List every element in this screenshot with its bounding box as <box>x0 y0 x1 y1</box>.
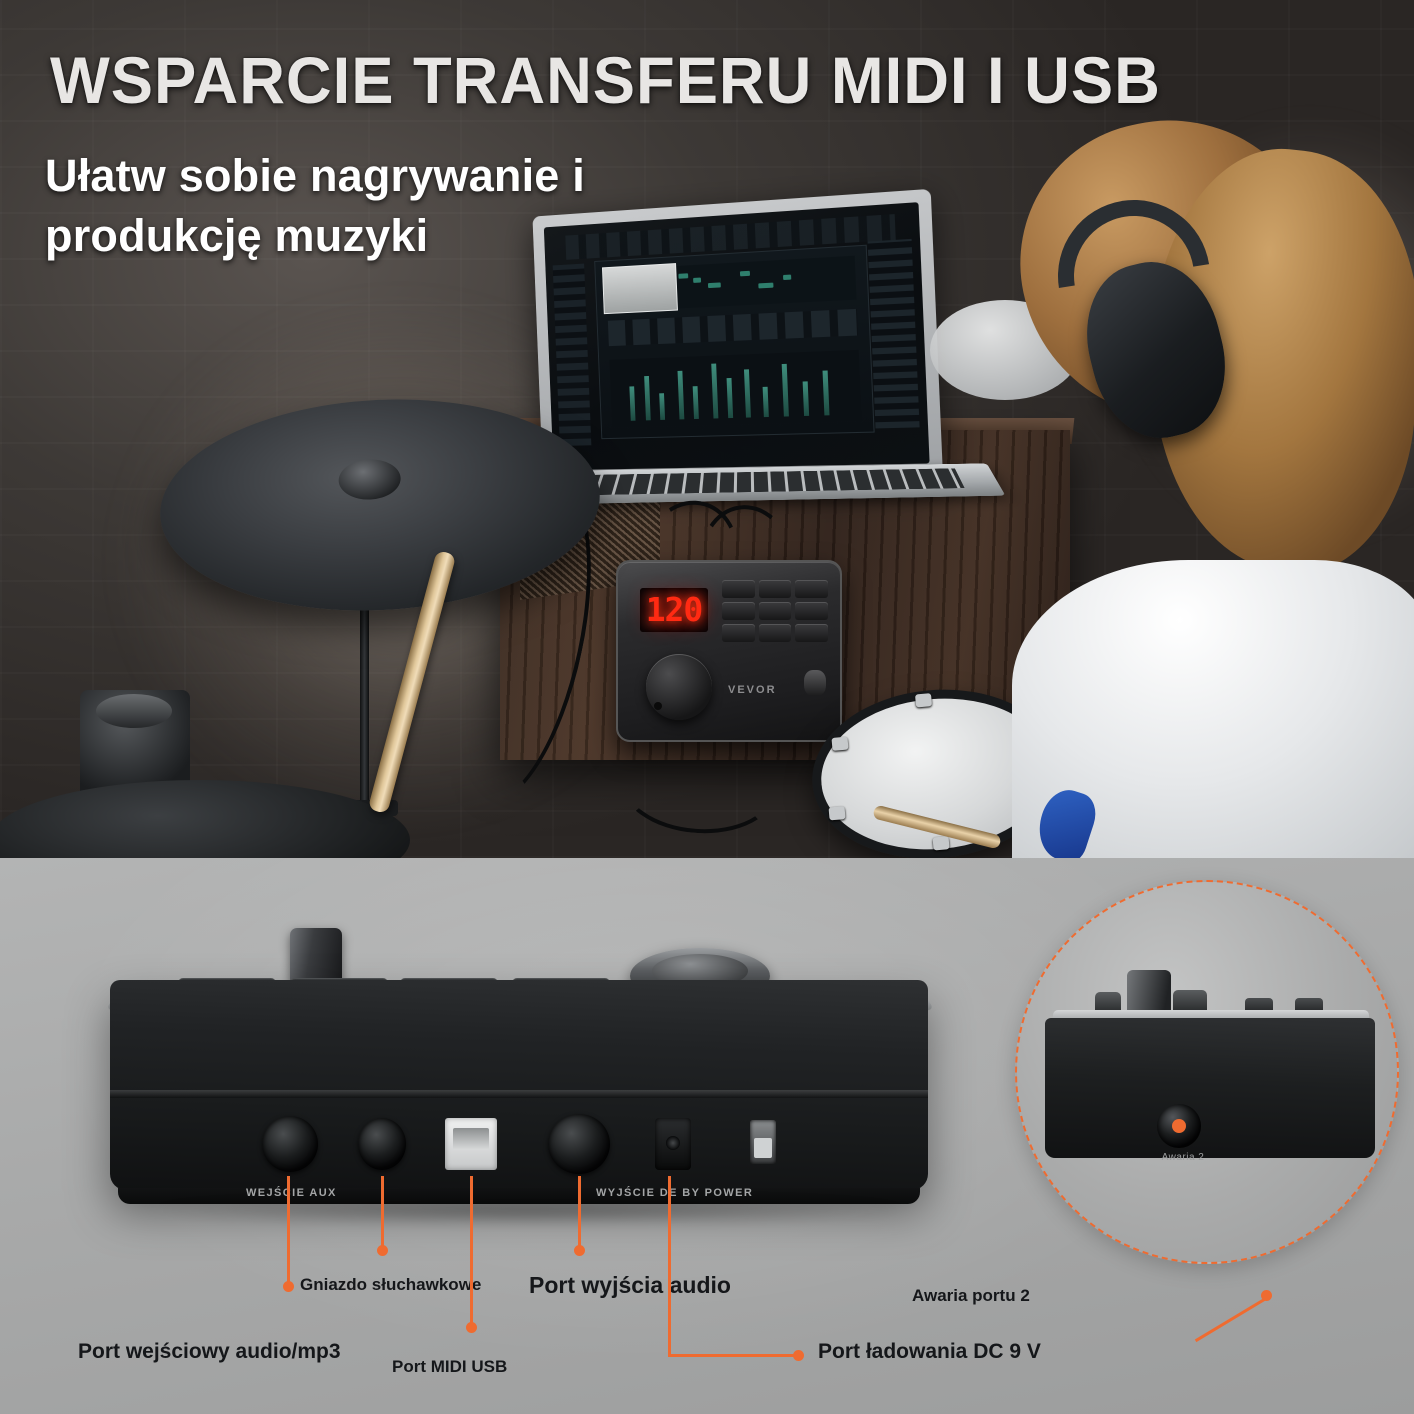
cymbal-bell <box>338 458 402 501</box>
laptop-lid <box>532 189 943 484</box>
module-small-knob <box>804 670 826 696</box>
dc-power-port <box>655 1118 691 1170</box>
callout-line-audio-in <box>287 1176 290 1286</box>
aux-input-jack <box>262 1116 318 1172</box>
device-seam-line <box>110 1090 928 1098</box>
callout-dot-dc <box>793 1350 804 1361</box>
usb-b-midi-port <box>445 1118 497 1170</box>
callout-line-headphone <box>381 1176 384 1250</box>
led-display-value: 120 <box>640 590 708 629</box>
hero-photo-section: 120 VEVOR <box>0 0 1414 858</box>
callout-dot-port2 <box>1261 1290 1272 1301</box>
callout-line-dc-vertical <box>668 1176 671 1356</box>
subtitle-line-1: Ułatw sobie nagrywanie i <box>45 146 585 206</box>
page-subtitle: Ułatw sobie nagrywanie i produkcję muzyk… <box>45 146 585 266</box>
device-drop-shadow <box>150 1198 910 1224</box>
power-slide-switch <box>750 1120 776 1164</box>
callout-dot-midi-usb <box>466 1322 477 1333</box>
callout-line-audio-out <box>578 1176 581 1250</box>
hihat-top-cymbal <box>96 694 172 728</box>
daw-mixer <box>610 350 862 427</box>
daw-sequencer-lane <box>608 309 858 346</box>
cymbal-stand <box>360 580 369 810</box>
callout-dot-audio-out <box>574 1245 585 1256</box>
callout-label-port2: Awaria portu 2 <box>912 1286 1030 1306</box>
device-body <box>110 980 928 1190</box>
daw-popup-dialog <box>602 263 678 313</box>
module-volume-knob <box>646 654 712 720</box>
callout-dot-audio-in <box>283 1281 294 1292</box>
product-infographic-page: 120 VEVOR <box>0 0 1414 1414</box>
detail-inset-circle: Awaria 2 <box>1015 880 1399 1264</box>
callout-label-headphone: Gniazdo słuchawkowe <box>300 1275 481 1295</box>
callout-line-dc-horizontal <box>668 1354 800 1357</box>
led-display: 120 <box>640 588 708 632</box>
callout-line-midi-usb <box>470 1176 473 1328</box>
callout-dot-headphone <box>377 1245 388 1256</box>
headphone-jack <box>358 1118 406 1170</box>
subtitle-line-2: produkcję muzyki <box>45 206 585 266</box>
inset-device-body <box>1045 1018 1375 1158</box>
drum-module: 120 VEVOR <box>616 560 842 742</box>
module-button-grid <box>722 580 828 642</box>
daw-left-browser <box>552 264 591 446</box>
page-title: WSPARCIE TRANSFERU MIDI I USB <box>50 42 1161 118</box>
laptop-keys <box>579 468 964 495</box>
daw-right-rack <box>868 239 920 428</box>
inset-port-2-jack <box>1157 1104 1201 1148</box>
callout-label-audio-out: Port wyjścia audio <box>529 1272 731 1299</box>
panel-label-aux: WEJŚCIE AUX <box>246 1187 337 1199</box>
callout-label-dc-charge: Port ładowania DC 9 V <box>818 1340 1041 1364</box>
callout-label-midi-usb: Port MIDI USB <box>392 1357 507 1377</box>
audio-output-jack <box>548 1114 610 1174</box>
laptop-screen <box>544 202 930 470</box>
callout-label-audio-in: Port wejściowy audio/mp3 <box>78 1340 341 1364</box>
module-brand-label: VEVOR <box>728 684 777 696</box>
panel-label-output-power: WYJŚCIE DE BY POWER <box>596 1187 753 1199</box>
inset-port-label: Awaria 2 <box>1113 1152 1253 1163</box>
